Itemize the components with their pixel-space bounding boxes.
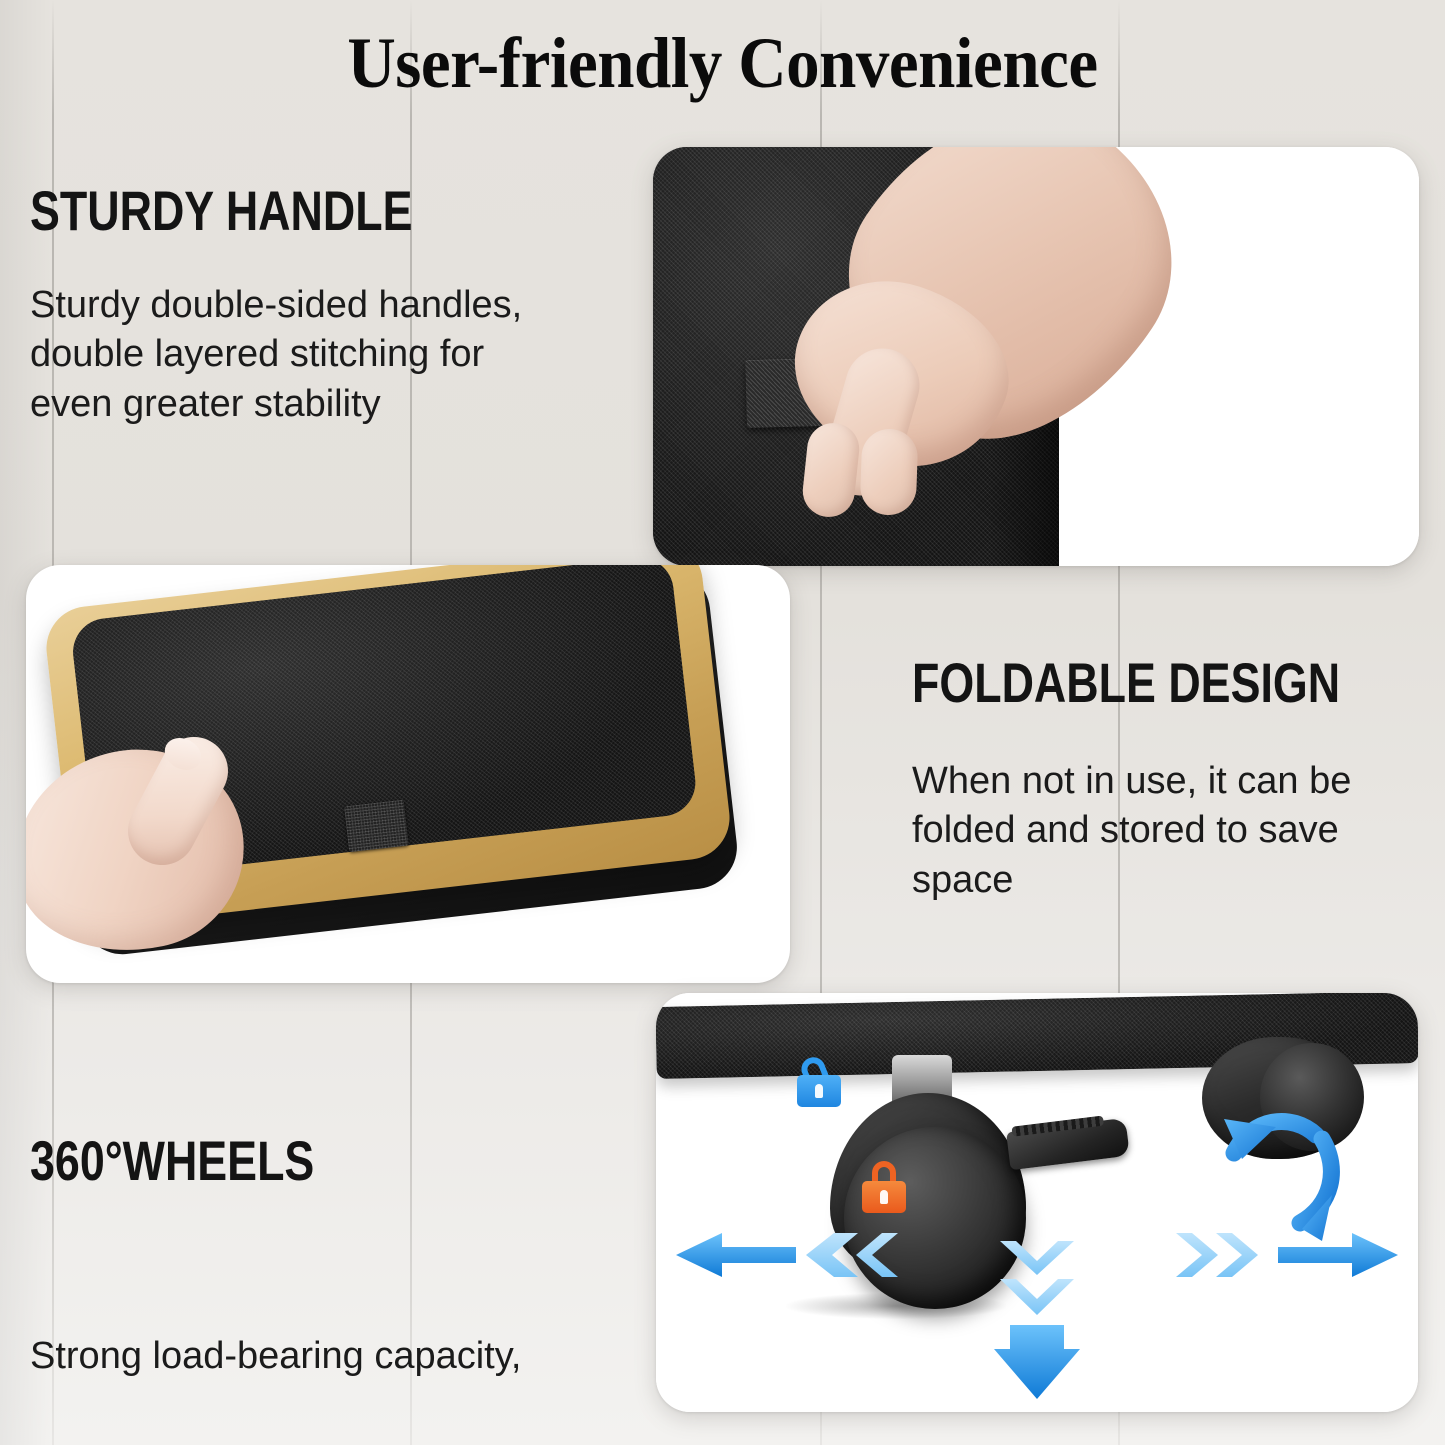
body-line: Sturdy double-sided handles, <box>30 281 640 330</box>
body-line: double layered stitching for <box>30 330 640 379</box>
section-360-wheels-text: 360°WHEELS Strong load-bearing capacity,… <box>30 1128 650 1445</box>
body-line: space <box>912 856 1445 905</box>
sturdy-handle-heading: STURDY HANDLE <box>30 178 518 243</box>
page-title: User-friendly Convenience <box>51 22 1395 105</box>
velcro-patch <box>344 800 409 852</box>
infographic-page: User-friendly Convenience STURDY HANDLE … <box>0 0 1445 1445</box>
padlock-keyhole <box>880 1190 888 1204</box>
locked-padlock-icon <box>862 1161 906 1213</box>
foldable-design-heading: FOLDABLE DESIGN <box>912 650 1344 715</box>
body-line: folded and stored to save <box>912 806 1445 855</box>
body-line: even greater stability <box>30 380 640 429</box>
finger-ring <box>860 428 919 516</box>
photo-card-sturdy-handle <box>653 147 1419 566</box>
section-foldable-design-text: FOLDABLE DESIGN When not in use, it can … <box>912 650 1445 905</box>
sturdy-handle-body: Sturdy double-sided handles, double laye… <box>30 281 640 429</box>
section-sturdy-handle-text: STURDY HANDLE Sturdy double-sided handle… <box>30 178 640 429</box>
directional-arrows <box>656 1229 1418 1409</box>
photo-card-360-wheels <box>656 993 1418 1412</box>
body-line: When not in use, it can be <box>912 757 1445 806</box>
wheels-heading: 360°WHEELS <box>30 1128 526 1193</box>
wheels-body: Strong load-bearing capacity, easy to mo… <box>30 1233 650 1445</box>
padlock-keyhole <box>815 1084 823 1098</box>
body-line: Strong load-bearing capacity, <box>30 1332 650 1381</box>
arrow-left-icon <box>676 1233 898 1277</box>
unlocked-padlock-icon <box>797 1055 841 1107</box>
arrow-right-icon <box>1176 1233 1398 1277</box>
foldable-design-body: When not in use, it can be folded and st… <box>912 757 1445 905</box>
arrow-down-icon <box>994 1241 1080 1399</box>
photo-card-foldable-board <box>26 565 790 983</box>
